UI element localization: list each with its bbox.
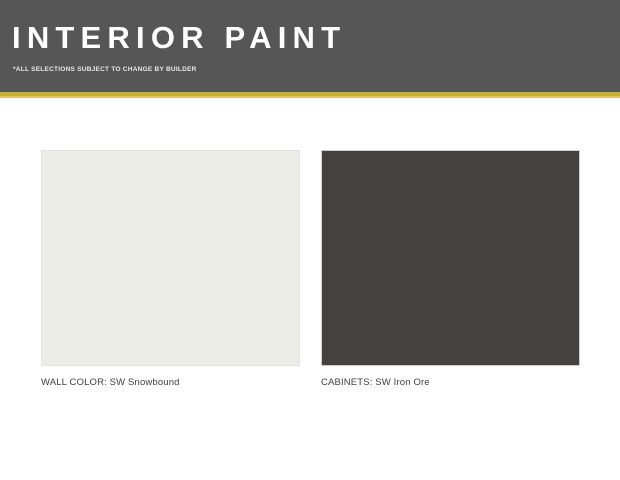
swatch-card-wall-color: WALL COLOR: SW Snowbound — [41, 150, 300, 388]
accent-bar-highlight — [0, 96, 620, 98]
interior-paint-slide: INTERIOR PAINT *ALL SELECTIONS SUBJECT T… — [0, 0, 620, 480]
swatch-card-cabinets: CABINETS: SW Iron Ore — [321, 150, 580, 388]
swatch-caption-wall-color: WALL COLOR: SW Snowbound — [41, 377, 300, 388]
disclaimer-text: *ALL SELECTIONS SUBJECT TO CHANGE BY BUI… — [13, 67, 197, 74]
header-band: INTERIOR PAINT *ALL SELECTIONS SUBJECT T… — [0, 0, 620, 92]
page-title: INTERIOR PAINT — [12, 22, 346, 53]
swatch-caption-cabinets: CABINETS: SW Iron Ore — [321, 377, 580, 388]
color-swatch-cabinets — [321, 150, 580, 366]
color-swatch-wall-color — [41, 150, 300, 366]
swatch-row: WALL COLOR: SW Snowbound CABINETS: SW Ir… — [0, 150, 620, 400]
